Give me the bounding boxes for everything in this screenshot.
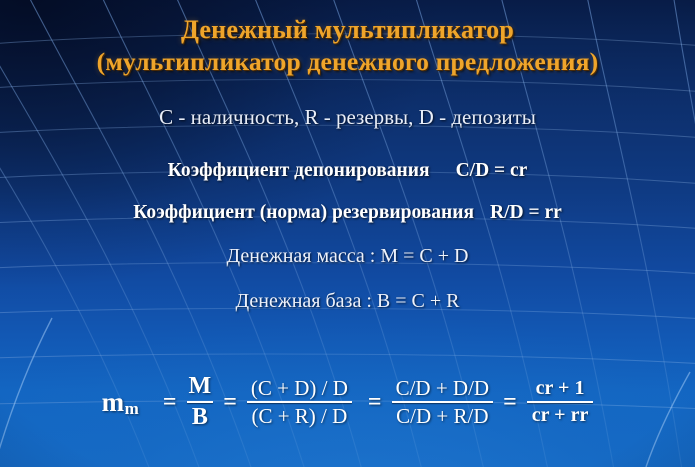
formula-equals-2: =	[223, 389, 237, 416]
slide-title: Денежный мультипликатор (мультипликатор …	[0, 14, 695, 78]
formula-equals-4: =	[503, 389, 517, 416]
fraction-expanded-denominator: (C + R) / D	[247, 405, 351, 427]
money-multiplier-formula: mm = M B = (C + D) / D (C + R) / D = C/D…	[0, 366, 695, 438]
formula-fraction-expanded: (C + D) / D (C + R) / D	[247, 377, 352, 427]
formula-fraction-result: cr + 1 cr + rr	[527, 378, 594, 426]
legend-definitions: C - наличность, R - резервы, D - депозит…	[0, 104, 695, 130]
coefficient-formula-deposit: C/D = cr	[456, 160, 528, 181]
fraction-mb-bar	[187, 401, 214, 403]
fraction-mb-denominator: B	[190, 405, 210, 430]
fraction-result-denominator: cr + rr	[527, 405, 594, 426]
title-line-1: Денежный мультипликатор	[0, 14, 695, 46]
fraction-mb-numerator: M	[187, 374, 214, 399]
coefficient-label-reserve: Коэффициент (норма) резервирования	[133, 202, 474, 223]
formula-lhs-subscript: m	[125, 399, 139, 418]
fraction-expanded-numerator: (C + D) / D	[247, 377, 352, 399]
formula-lhs-symbol: mm	[102, 387, 139, 418]
formula-equals-1: =	[163, 389, 177, 416]
fraction-ratios-denominator: C/D + R/D	[392, 405, 492, 427]
coefficient-row-reserve: Коэффициент (норма) резервированияR/D = …	[0, 200, 695, 225]
slide-content: Денежный мультипликатор (мультипликатор …	[0, 0, 695, 467]
coefficient-row-deposit: Коэффициент депонированияC/D = cr	[0, 158, 695, 183]
definition-monetary-base: Денежная база : B = C + R	[0, 288, 695, 314]
formula-fraction-ratios: C/D + D/D C/D + R/D	[392, 377, 494, 427]
formula-equals-3: =	[368, 389, 382, 416]
fraction-expanded-bar	[247, 401, 352, 403]
fraction-ratios-numerator: C/D + D/D	[392, 377, 494, 399]
title-line-2: (мультипликатор денежного предложения)	[0, 46, 695, 78]
fraction-ratios-bar	[392, 401, 494, 403]
formula-lhs-base: m	[102, 387, 125, 417]
formula-fraction-mb: M B	[187, 374, 214, 430]
coefficient-formula-reserve: R/D = rr	[490, 202, 562, 223]
definition-money-supply: Денежная масса : M = C + D	[0, 243, 695, 269]
coefficient-label-deposit: Коэффициент депонирования	[168, 160, 430, 181]
fraction-result-bar	[527, 401, 594, 403]
slide-canvas: Денежный мультипликатор (мультипликатор …	[0, 0, 695, 467]
fraction-result-numerator: cr + 1	[531, 378, 590, 399]
